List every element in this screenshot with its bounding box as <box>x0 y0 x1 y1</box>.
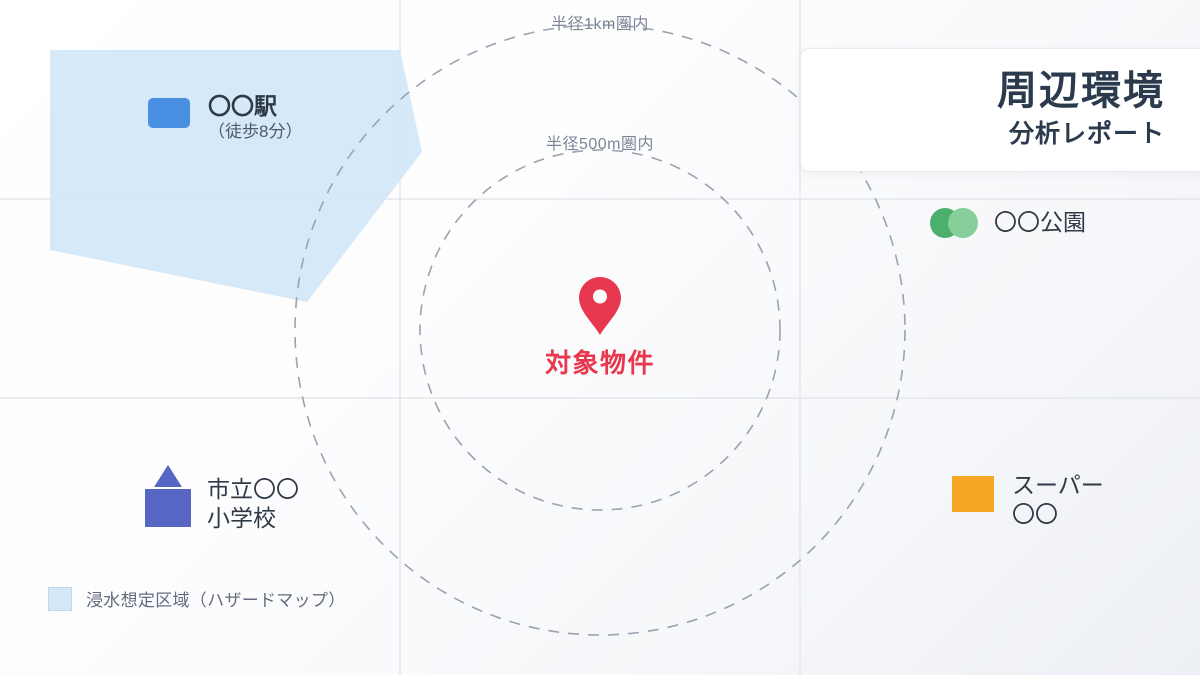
poi-park-text: 〇〇公園 <box>994 208 1086 237</box>
poi-station-name: 〇〇駅 <box>208 92 302 121</box>
hazard-map-legend: 浸水想定区域（ハザードマップ） <box>48 586 346 611</box>
page-title: 周辺環境 <box>997 69 1165 114</box>
subject-property-marker[interactable]: 対象物件 <box>545 275 655 380</box>
poi-station-text: 〇〇駅 （徒歩8分） <box>208 92 302 144</box>
poi-supermarket[interactable]: スーパー 〇〇 <box>952 472 1104 530</box>
school-icon-body <box>145 489 191 527</box>
poi-park-name: 〇〇公園 <box>994 208 1086 237</box>
poi-station[interactable]: 〇〇駅 （徒歩8分） <box>148 92 302 144</box>
page-subtitle: 分析レポート <box>1009 119 1165 150</box>
supermarket-icon <box>952 476 994 512</box>
poi-school[interactable]: 市立〇〇 小学校 <box>145 463 299 534</box>
poi-school-name: 市立〇〇 <box>207 475 299 504</box>
poi-school-name-line2: 小学校 <box>207 504 299 533</box>
hazard-legend-swatch <box>48 587 72 611</box>
park-icon <box>930 207 978 239</box>
poi-station-walk-time: （徒歩8分） <box>208 121 302 143</box>
poi-supermarket-name: スーパー <box>1012 471 1104 500</box>
map-pin-icon <box>577 275 623 337</box>
radius-label-1km: 半径1km圏内 <box>551 10 649 34</box>
report-title-card: 周辺環境 分析レポート <box>800 48 1200 172</box>
subject-property-label: 対象物件 <box>545 343 655 380</box>
radius-label-500m: 半径500m圏内 <box>546 130 654 154</box>
poi-park[interactable]: 〇〇公園 <box>930 207 1086 239</box>
school-icon <box>145 463 191 527</box>
poi-school-text: 市立〇〇 小学校 <box>207 475 299 534</box>
park-icon-circle-light <box>948 208 978 238</box>
hazard-legend-label: 浸水想定区域（ハザードマップ） <box>86 586 346 611</box>
hazard-flood-area <box>50 50 422 302</box>
poi-supermarket-name-line2: 〇〇 <box>1012 500 1104 529</box>
station-icon <box>148 98 190 128</box>
poi-supermarket-text: スーパー 〇〇 <box>1012 471 1104 530</box>
neighborhood-map-report: 半径1km圏内 半径500m圏内 周辺環境 分析レポート 対象物件 〇〇駅 （徒… <box>0 0 1200 675</box>
school-icon-roof <box>154 465 182 487</box>
